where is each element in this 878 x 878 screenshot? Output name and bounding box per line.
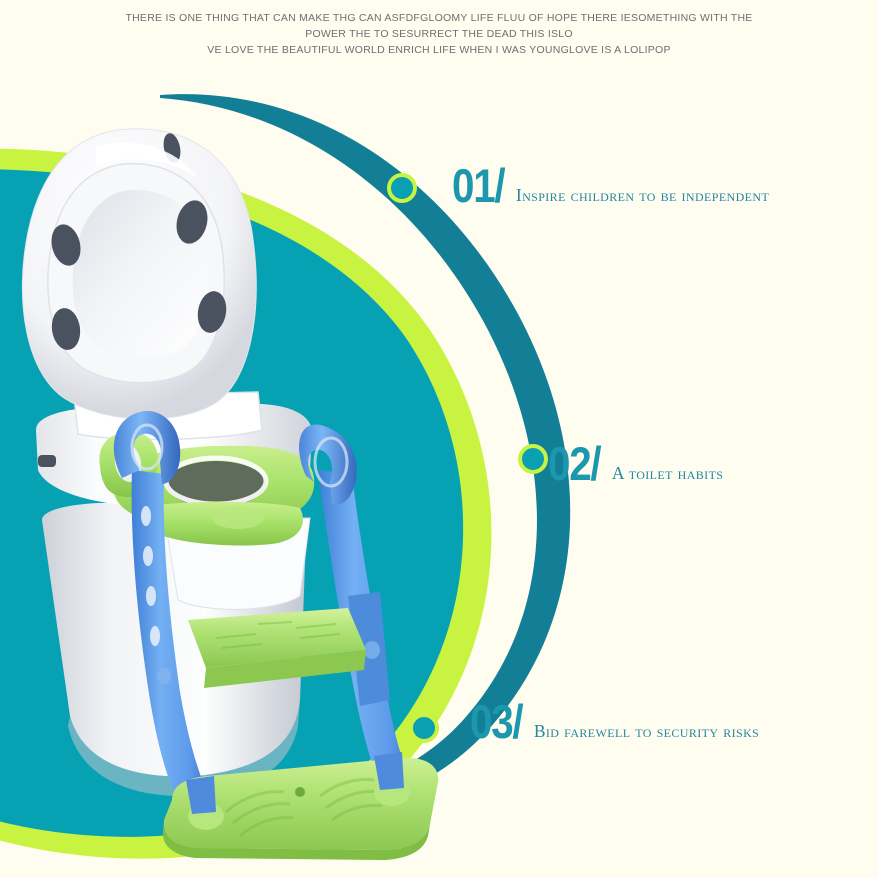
callout-marker-01[interactable] [387, 173, 417, 203]
rail-hole-l1 [141, 506, 151, 526]
ladder-base-screw [295, 787, 305, 797]
callout-marker-02[interactable] [518, 444, 548, 474]
poster-canvas: THERE IS ONE THING THAT CAN MAKE THG CAN… [0, 0, 878, 878]
rail-hole-l3 [146, 586, 156, 606]
callout-03-text: Bid farewell to security risks [534, 722, 759, 740]
callout-03-number: 03/ [470, 698, 522, 745]
callout-marker-03[interactable] [409, 713, 439, 743]
callout-03[interactable]: 03/ Bid farewell to security risks [470, 698, 759, 745]
rail-pivot-right [364, 641, 380, 659]
rail-pivot-left [157, 668, 171, 684]
callout-02-text: A toilet habits [612, 464, 724, 482]
callout-02-number: 02/ [548, 440, 600, 487]
rail-hole-l2 [143, 546, 153, 566]
product-photo [0, 0, 878, 878]
callout-01-number: 01/ [452, 162, 504, 209]
toilet-side-button [38, 455, 56, 467]
child-seat-deflector-knob [212, 507, 264, 529]
callout-01[interactable]: 01/ Inspire children to be independent [452, 162, 769, 209]
callout-01-text: Inspire children to be independent [516, 186, 769, 204]
rail-hole-l4 [150, 626, 160, 646]
callout-02[interactable]: 02/ A toilet habits [548, 440, 723, 487]
